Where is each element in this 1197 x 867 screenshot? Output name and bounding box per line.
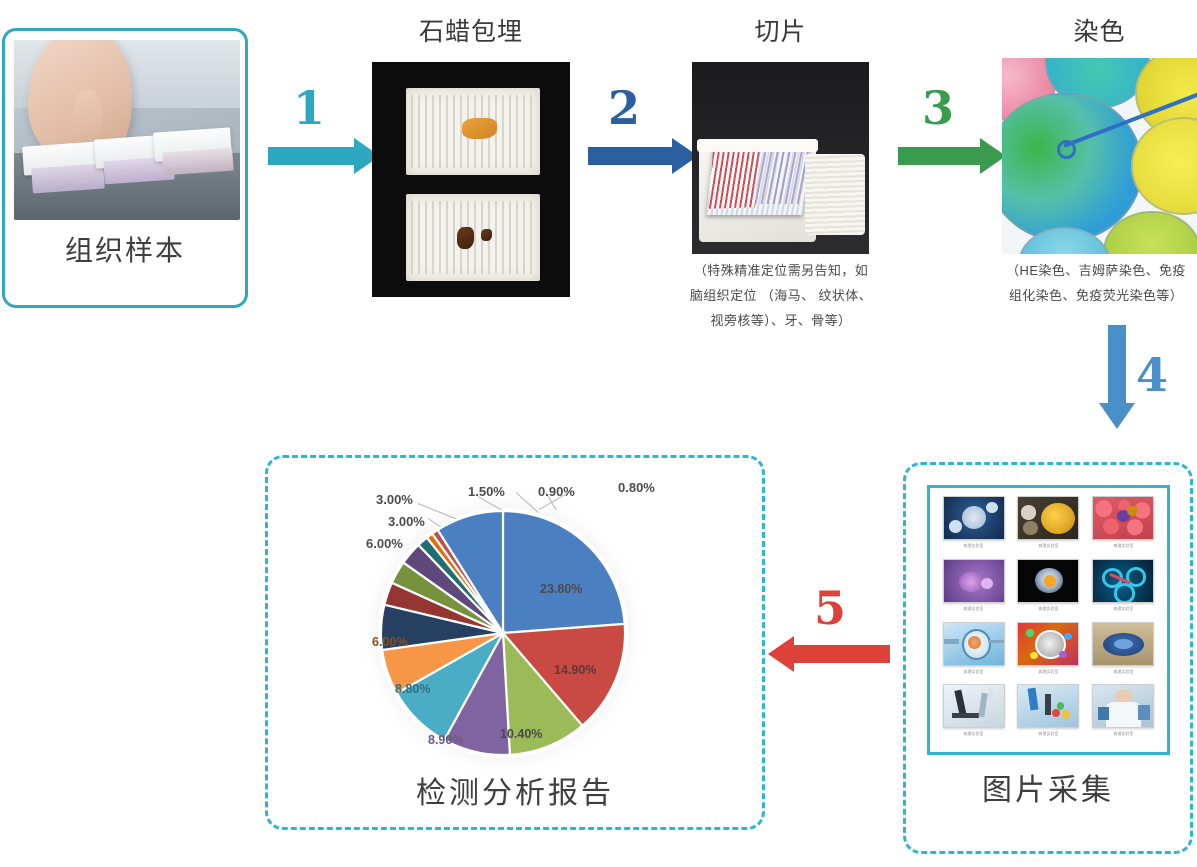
gallery-caption: 病理实验室	[964, 543, 984, 549]
report-label: 检测分析报告	[265, 768, 765, 812]
gallery-thumbnail[interactable]	[1017, 684, 1079, 728]
gallery-thumbnail[interactable]	[943, 559, 1005, 603]
gallery-item[interactable]: 病理实验室	[1013, 622, 1085, 682]
staining-note-line-1: （HE染色、吉姆萨染色、免疫	[995, 258, 1197, 283]
pie-label-inside: 10.40%	[500, 727, 542, 741]
gallery-item[interactable]: 病理实验室	[938, 622, 1010, 682]
arrow-2	[588, 147, 698, 165]
arrow-5	[768, 645, 890, 663]
image-gallery-grid: 病理实验室 病理实验室 病理实验室	[938, 496, 1159, 744]
section-note-line-3: 视旁核等）、牙、骨等）	[672, 308, 890, 333]
arrow-3-shaft	[898, 147, 982, 165]
gallery-caption: 病理实验室	[1113, 543, 1133, 549]
arrow-1-shaft	[268, 147, 356, 165]
gallery-thumbnail[interactable]	[1092, 622, 1154, 666]
gallery-caption: 病理实验室	[1113, 606, 1133, 612]
staining-title: 染色	[1002, 12, 1197, 48]
gallery-item[interactable]: 病理实验室	[1087, 622, 1159, 682]
gallery-thumbnail[interactable]	[1092, 496, 1154, 540]
step-number-1: 1	[293, 85, 325, 131]
arrow-1	[268, 147, 380, 165]
gallery-thumbnail[interactable]	[943, 684, 1005, 728]
arrow-4-shaft	[1108, 325, 1126, 405]
gallery-caption: 病理实验室	[964, 606, 984, 612]
arrow-4	[1108, 325, 1126, 430]
gallery-thumbnail[interactable]	[943, 622, 1005, 666]
tissue-sample-card: 组织样本	[2, 28, 248, 308]
pie-chart: 3.00% 3.00% 6.00% 1.50% 0.90% 0.80%	[300, 470, 730, 760]
slide-box-photo	[692, 62, 869, 254]
step-number-4: 4	[1136, 352, 1168, 398]
arrow-5-head	[768, 636, 794, 672]
gallery-item[interactable]: 病理实验室	[1013, 496, 1085, 556]
loop-ring-icon	[1057, 140, 1076, 159]
gallery-item[interactable]: 病理实验室	[1087, 496, 1159, 556]
staining-note: （HE染色、吉姆萨染色、免疫 组化染色、免疫荧光染色等）	[995, 258, 1197, 308]
arrow-5-shaft	[792, 645, 890, 663]
section-note-line-2: 脑组织定位 （海马、 纹状体、	[672, 283, 890, 308]
pie-svg	[378, 508, 628, 758]
section-note-line-1: （特殊精准定位需另告知，如	[672, 258, 890, 283]
gallery-thumbnail[interactable]	[1017, 559, 1079, 603]
gallery-item[interactable]: 病理实验室	[1087, 684, 1159, 744]
gallery-item[interactable]: 病理实验室	[938, 496, 1010, 556]
image-gallery-frame: 病理实验室 病理实验室 病理实验室	[927, 485, 1170, 755]
gallery-caption: 病理实验室	[1113, 731, 1133, 737]
pie-label-inside: 8.80%	[395, 682, 430, 696]
arrow-4-head	[1099, 403, 1135, 429]
pie-label-inside: 6.00%	[372, 635, 407, 649]
gallery-thumbnail[interactable]	[1017, 622, 1079, 666]
gallery-item[interactable]: 病理实验室	[1013, 559, 1085, 619]
tissue-sample-label: 组织样本	[5, 229, 245, 269]
gallery-thumbnail[interactable]	[1017, 496, 1079, 540]
section-title: 切片	[692, 12, 869, 48]
pie-label-outside: 0.90%	[538, 484, 575, 499]
gallery-item[interactable]: 病理实验室	[938, 684, 1010, 744]
pie-label-inside: 8.90%	[428, 733, 463, 747]
gallery-thumbnail[interactable]	[943, 496, 1005, 540]
workflow-diagram: 组织样本 1 石蜡包埋 2 切片 （特殊精准定位需另告知，如	[0, 0, 1197, 867]
section-note: （特殊精准定位需另告知，如 脑组织定位 （海马、 纹状体、 视旁核等）、牙、骨等…	[672, 258, 890, 333]
gallery-caption: 病理实验室	[964, 731, 984, 737]
pie-label-inside: 14.90%	[554, 663, 596, 677]
tissue-sample-photo	[14, 40, 240, 220]
step-number-2: 2	[608, 85, 640, 131]
gallery-caption: 病理实验室	[1039, 731, 1059, 737]
paraffin-title: 石蜡包埋	[372, 12, 570, 48]
pie-label-outside: 0.80%	[618, 480, 655, 495]
gallery-thumbnail[interactable]	[1092, 684, 1154, 728]
step-number-3: 3	[922, 85, 954, 131]
gallery-item[interactable]: 病理实验室	[938, 559, 1010, 619]
gallery-caption: 病理实验室	[1113, 669, 1133, 675]
pie-label-inside: 23.80%	[540, 582, 582, 596]
gallery-caption: 病理实验室	[1039, 669, 1059, 675]
arrow-3	[898, 147, 1006, 165]
pie-label-outside: 1.50%	[468, 484, 505, 499]
paraffin-block-photo	[372, 62, 570, 297]
staining-note-line-2: 组化染色、免疫荧光染色等）	[995, 283, 1197, 308]
pie-label-outside: 3.00%	[376, 492, 413, 507]
arrow-2-shaft	[588, 147, 674, 165]
step-number-5: 5	[814, 585, 846, 631]
gallery-caption: 病理实验室	[1039, 543, 1059, 549]
staining-photo	[1002, 58, 1197, 254]
gallery-thumbnail[interactable]	[1092, 559, 1154, 603]
gallery-item[interactable]: 病理实验室	[1013, 684, 1085, 744]
gallery-caption: 病理实验室	[1039, 606, 1059, 612]
gallery-item[interactable]: 病理实验室	[1087, 559, 1159, 619]
gallery-caption: 病理实验室	[964, 669, 984, 675]
pie-chart-body	[378, 508, 628, 758]
image-capture-label: 图片采集	[903, 765, 1193, 809]
